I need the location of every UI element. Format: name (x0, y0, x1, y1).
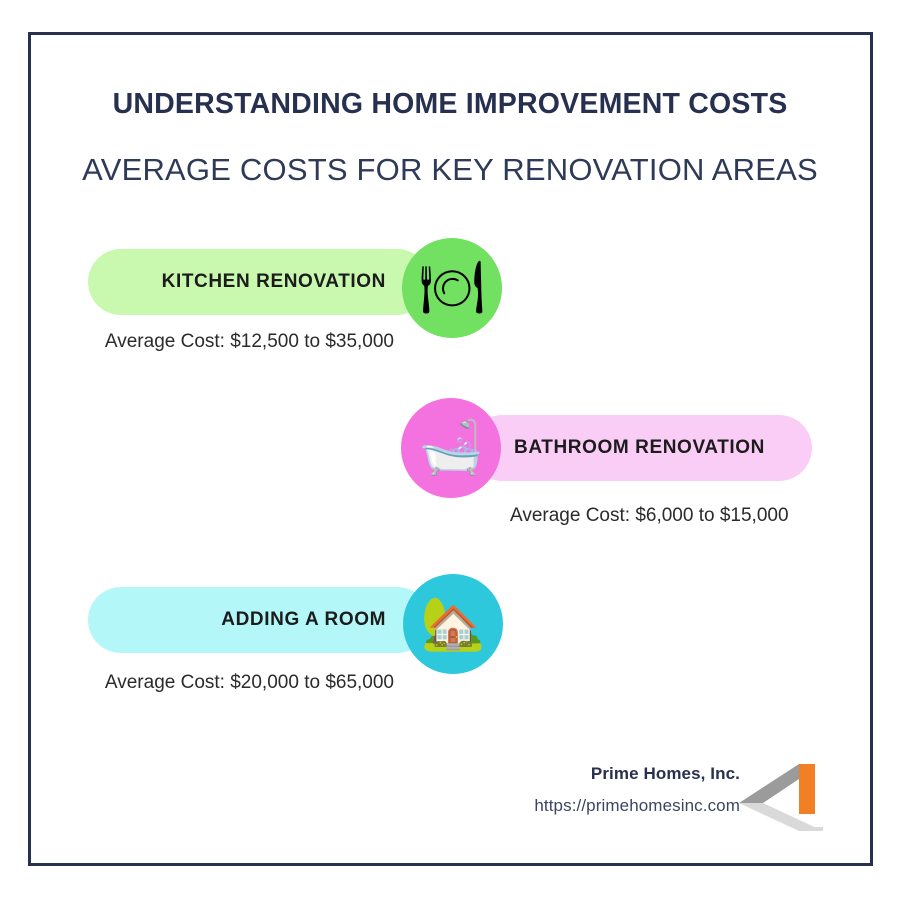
pill-adding-a-room[interactable]: ADDING A ROOM (88, 587, 430, 653)
page-title: UNDERSTANDING HOME IMPROVEMENT COSTS (50, 88, 850, 121)
bathtub-icon: 🛁 (419, 422, 484, 474)
pill-label-kitchen: KITCHEN RENOVATION (88, 271, 386, 293)
pill-label-adding-a-room: ADDING A ROOM (88, 609, 386, 631)
icon-badge-adding-a-room: 🏡 (403, 574, 503, 674)
icon-badge-kitchen: 🍽 (402, 238, 502, 338)
prime-homes-triangle-logo (737, 757, 829, 833)
icon-badge-bathroom: 🛁 (401, 398, 501, 498)
pill-label-bathroom: BATHROOM RENOVATION (514, 437, 812, 459)
brand-company-name: Prime Homes, Inc. (591, 764, 740, 784)
pill-kitchen[interactable]: KITCHEN RENOVATION (88, 249, 430, 315)
cost-caption-kitchen: Average Cost: $12,500 to $35,000 (88, 329, 394, 356)
page-subtitle: AVERAGE COSTS FOR KEY RENOVATION AREAS (50, 152, 850, 188)
infographic-canvas: UNDERSTANDING HOME IMPROVEMENT COSTS AVE… (0, 0, 900, 900)
brand-website-url[interactable]: https://primehomesinc.com (534, 796, 740, 816)
fork-plate-knife-icon: 🍽 (419, 262, 485, 314)
pill-bathroom[interactable]: BATHROOM RENOVATION (470, 415, 812, 481)
cost-caption-adding-a-room: Average Cost: $20,000 to $65,000 (88, 670, 394, 697)
cost-caption-bathroom: Average Cost: $6,000 to $15,000 (510, 503, 820, 530)
house-with-garden-icon: 🏡 (421, 598, 486, 650)
